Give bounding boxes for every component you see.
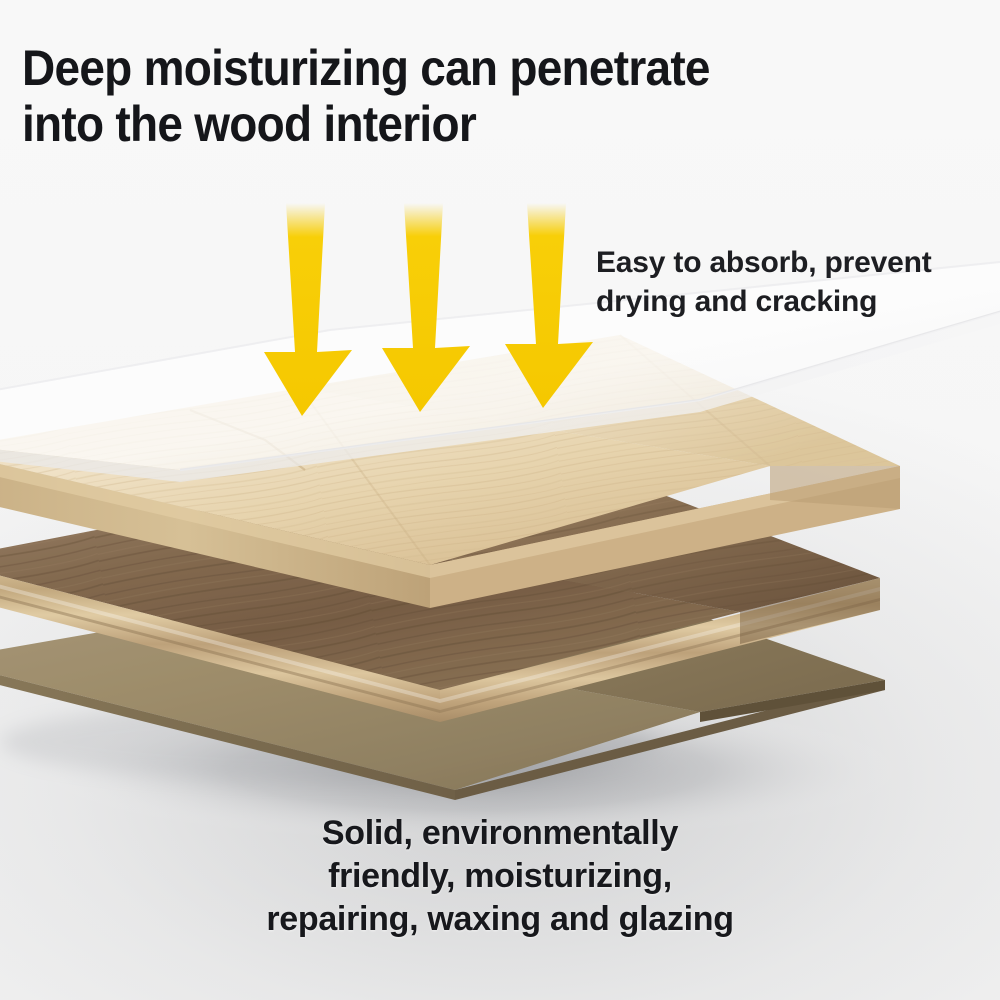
page-title: Deep moisturizing can penetrate into the… bbox=[22, 40, 850, 152]
caption-features: Solid, environmentally friendly, moistur… bbox=[150, 812, 850, 941]
penetration-arrows bbox=[264, 203, 593, 416]
product-infographic: Deep moisturizing can penetrate into the… bbox=[0, 0, 1000, 1000]
caption-absorb: Easy to absorb, prevent drying and crack… bbox=[596, 243, 996, 321]
